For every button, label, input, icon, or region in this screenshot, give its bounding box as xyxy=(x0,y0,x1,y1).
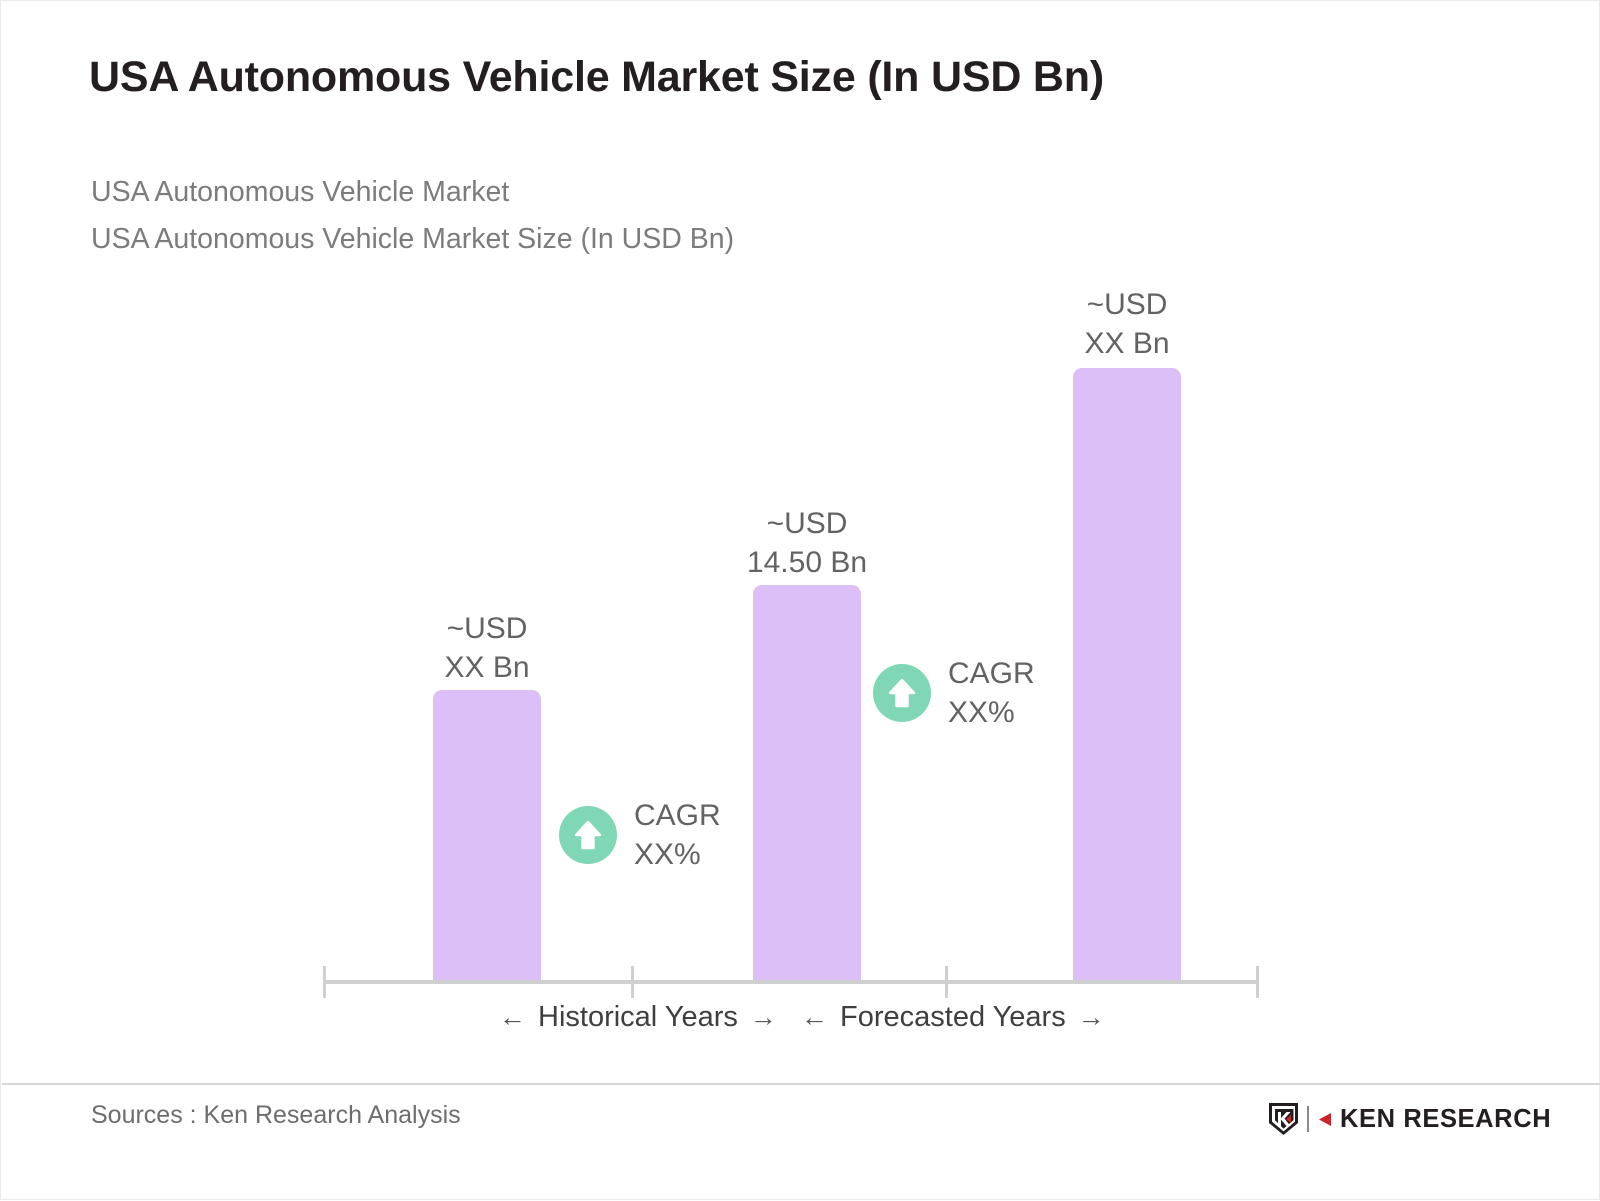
cagr-2-line1: CAGR xyxy=(948,654,1035,693)
axis-tick-mid-1 xyxy=(631,966,634,998)
arrow-left-icon: ← xyxy=(801,1002,828,1033)
bar-label-2-line2: 14.50 Bn xyxy=(693,543,921,582)
arrow-up-icon xyxy=(873,664,931,722)
bar-2[interactable] xyxy=(753,585,861,980)
bar-label-1-line2: XX Bn xyxy=(373,648,601,687)
bar-label-3: ~USD XX Bn xyxy=(1013,285,1241,363)
axis-tick-end xyxy=(1256,966,1259,998)
arrow-left-icon: ← xyxy=(499,1002,526,1033)
bar-label-3-line1: ~USD xyxy=(1013,285,1241,324)
logo-divider xyxy=(1307,1106,1309,1132)
arrow-up-icon xyxy=(559,806,617,864)
bar-label-2: ~USD 14.50 Bn xyxy=(693,504,921,582)
bar-label-3-line2: XX Bn xyxy=(1013,324,1241,363)
axis-caption-historical-label: Historical Years xyxy=(538,1001,738,1034)
bar-label-1-line1: ~USD xyxy=(373,609,601,648)
axis-caption-historical: ← Historical Years → xyxy=(499,1001,777,1034)
sources-label: Sources : Ken Research Analysis xyxy=(91,1101,461,1130)
axis-caption-forecasted: ← Forecasted Years → xyxy=(801,1001,1105,1034)
x-axis-line xyxy=(323,980,1259,984)
footer-divider xyxy=(2,1083,1600,1085)
bar-chart: ~USD XX Bn ~USD 14.50 Bn ~USD XX Bn CAGR xyxy=(1,1,1600,1201)
cagr-text-2: CAGR XX% xyxy=(948,654,1035,732)
bar-label-1: ~USD XX Bn xyxy=(373,609,601,687)
axis-tick-mid-2 xyxy=(945,966,948,998)
cagr-1-line2: XX% xyxy=(634,835,721,874)
cagr-annotation-1: CAGR XX% xyxy=(559,796,721,874)
ken-research-logo: KEN RESEARCH xyxy=(1267,1101,1551,1137)
arrow-right-icon: → xyxy=(750,1002,777,1033)
ken-shield-icon xyxy=(1267,1101,1300,1137)
axis-caption-forecasted-label: Forecasted Years xyxy=(840,1001,1066,1034)
arrow-right-icon: → xyxy=(1078,1002,1105,1033)
cagr-text-1: CAGR XX% xyxy=(634,796,721,874)
cagr-annotation-2: CAGR XX% xyxy=(873,654,1035,732)
bar-label-2-line1: ~USD xyxy=(693,504,921,543)
bar-1[interactable] xyxy=(433,690,541,980)
cagr-2-line2: XX% xyxy=(948,693,1035,732)
red-triangle-icon xyxy=(1316,1110,1333,1129)
bar-3[interactable] xyxy=(1073,368,1181,980)
slide-canvas: USA Autonomous Vehicle Market Size (In U… xyxy=(0,0,1600,1200)
axis-tick-start xyxy=(323,966,326,998)
logo-wordmark: KEN RESEARCH xyxy=(1340,1105,1551,1134)
cagr-1-line1: CAGR xyxy=(634,796,721,835)
